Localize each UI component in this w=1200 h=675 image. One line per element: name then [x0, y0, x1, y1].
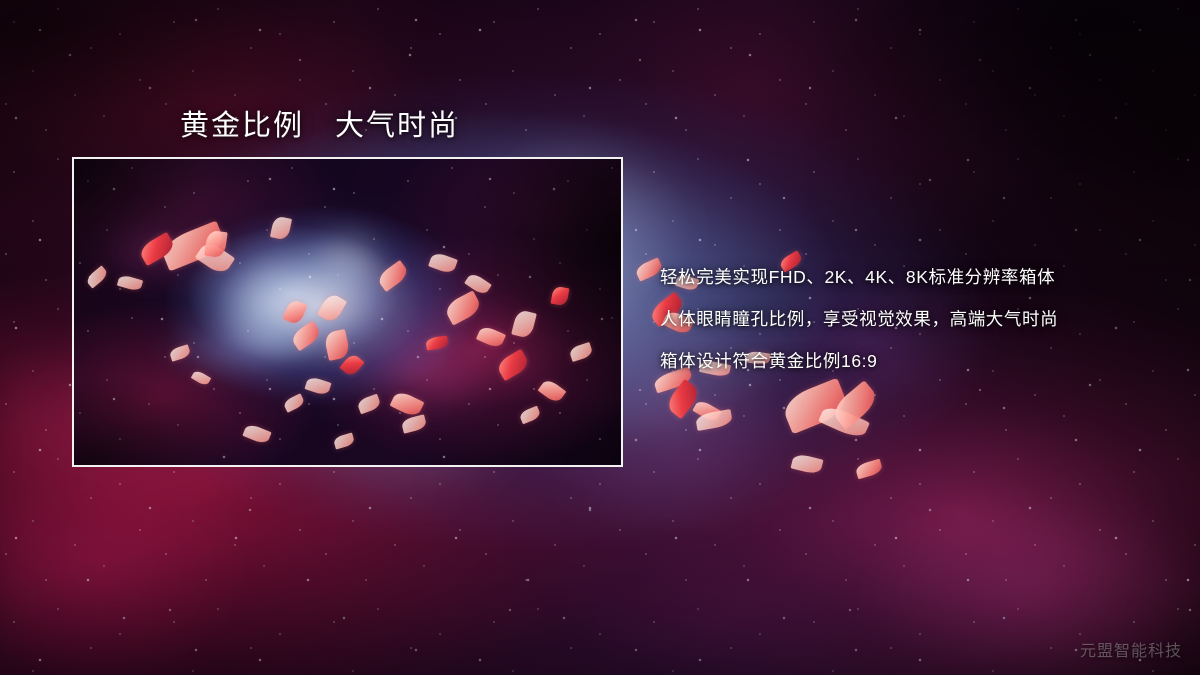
petal: [692, 398, 722, 423]
body-text-block: 轻松完美实现FHD、2K、4K、8K标准分辨率箱体 人体眼睛瞳孔比例，享受视觉效…: [660, 256, 1160, 382]
petal: [390, 389, 425, 418]
petal: [289, 321, 322, 352]
body-text-line-2: 人体眼睛瞳孔比例，享受视觉效果，高端大气时尚: [660, 298, 1160, 340]
watermark: 元盟智能科技: [1080, 637, 1182, 661]
petal: [191, 369, 212, 387]
petal: [242, 423, 271, 446]
petal: [443, 290, 483, 325]
page-title: 黄金比例 大气时尚: [180, 102, 459, 144]
petal: [339, 352, 364, 378]
petal: [169, 344, 192, 362]
petal: [695, 409, 733, 431]
petal: [464, 271, 492, 296]
petal: [85, 265, 110, 288]
body-text-line-1: 轻松完美实现FHD、2K、4K、8K标准分辨率箱体: [660, 256, 1160, 298]
petal: [159, 220, 228, 271]
petal: [855, 459, 884, 480]
petal: [356, 394, 381, 415]
petal: [317, 292, 347, 325]
petal: [137, 232, 176, 266]
petal: [538, 377, 567, 404]
petal: [376, 260, 411, 292]
petal: [195, 239, 235, 276]
petal: [117, 274, 143, 292]
petal: [551, 286, 570, 307]
petal: [518, 406, 541, 425]
petal: [476, 324, 506, 349]
petal: [323, 329, 350, 361]
petal: [304, 376, 331, 397]
petal: [495, 349, 531, 381]
petal: [664, 379, 702, 419]
petal: [791, 453, 824, 476]
photo-frame-image: [74, 159, 621, 465]
petal: [780, 378, 851, 435]
photo-frame: [72, 157, 623, 467]
body-text-line-3: 箱体设计符合黄金比例16:9: [660, 340, 1160, 382]
petal: [829, 380, 881, 429]
slide-canvas: 黄金比例 大气时尚 轻松完美实现FHD、2K、4K、8K标准分辨率箱体 人体眼睛…: [0, 0, 1200, 675]
petal: [428, 251, 458, 275]
petal: [401, 414, 428, 433]
petal: [511, 309, 537, 339]
petal: [818, 403, 870, 441]
petal: [568, 342, 593, 362]
petal: [282, 393, 305, 413]
petal: [333, 432, 356, 449]
petal: [270, 215, 292, 240]
petal: [204, 230, 227, 259]
petal: [425, 336, 448, 351]
petal-field-photo: [74, 159, 621, 465]
petal: [283, 298, 308, 325]
